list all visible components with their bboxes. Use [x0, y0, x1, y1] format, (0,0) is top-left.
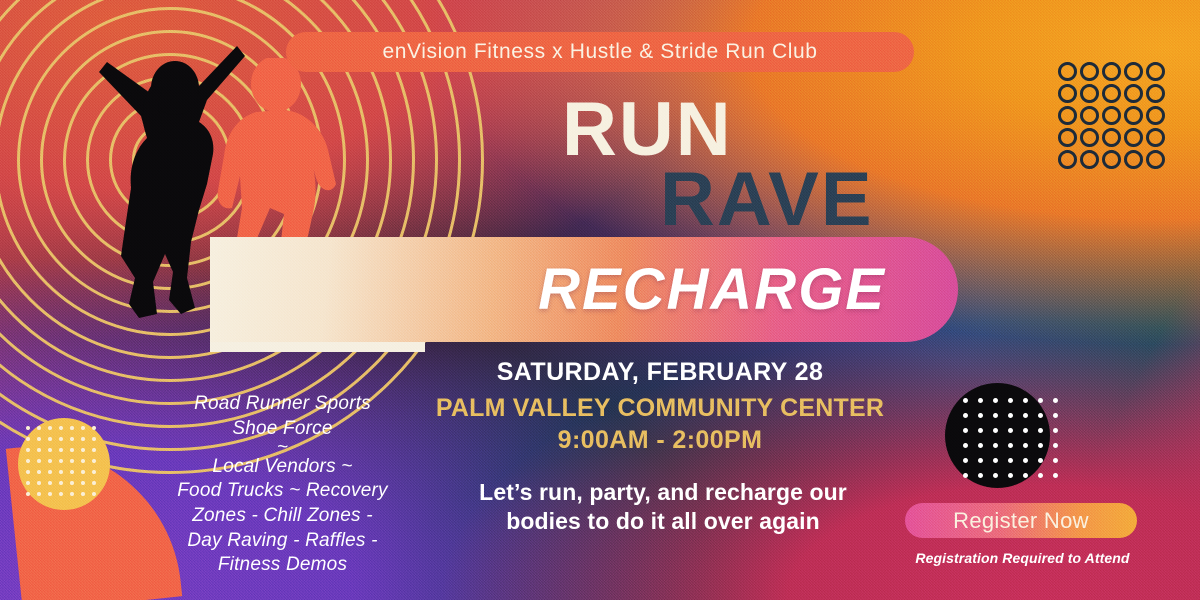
vendor-separator: ~ [140, 441, 425, 454]
partner-banner: enVision Fitness x Hustle & Stride Run C… [286, 32, 914, 72]
vendor-list: Road Runner Sports Shoe Force ~ Local Ve… [140, 392, 425, 578]
vendor-sponsor-1: Road Runner Sports [140, 392, 425, 417]
yellow-dot-grid-icon [26, 426, 103, 503]
recharge-title: RECHARGE [538, 256, 886, 323]
partner-banner-text: enVision Fitness x Hustle & Stride Run C… [382, 40, 817, 64]
vendor-feature-5: Fitness Demos [140, 553, 425, 578]
white-dot-grid-icon [963, 398, 1068, 488]
registration-note: Registration Required to Attend [880, 550, 1165, 566]
vendor-feature-4: Day Raving - Raffles - [140, 529, 425, 554]
event-time: 9:00AM - 2:00PM [400, 426, 920, 455]
vendor-feature-3: Zones - Chill Zones - [140, 504, 425, 529]
register-now-button[interactable]: Register Now [905, 503, 1137, 538]
vendor-feature-2: Food Trucks ~ Recovery [140, 479, 425, 504]
vendor-feature-1: Local Vendors ~ [140, 455, 425, 480]
recharge-banner: RECHARGE [210, 237, 958, 342]
event-date: SATURDAY, FEBRUARY 28 [400, 358, 920, 387]
ring-dot-grid-icon [1058, 62, 1168, 172]
event-tagline: Let’s run, party, and recharge our bodie… [448, 478, 878, 536]
rave-title: RAVE [660, 162, 874, 238]
event-details: SATURDAY, FEBRUARY 28 PALM VALLEY COMMUN… [400, 358, 920, 455]
event-venue: PALM VALLEY COMMUNITY CENTER [400, 394, 920, 423]
register-now-label: Register Now [953, 508, 1089, 534]
event-poster: RECHARGE enVision Fitness x Hustle & Str… [0, 0, 1200, 600]
